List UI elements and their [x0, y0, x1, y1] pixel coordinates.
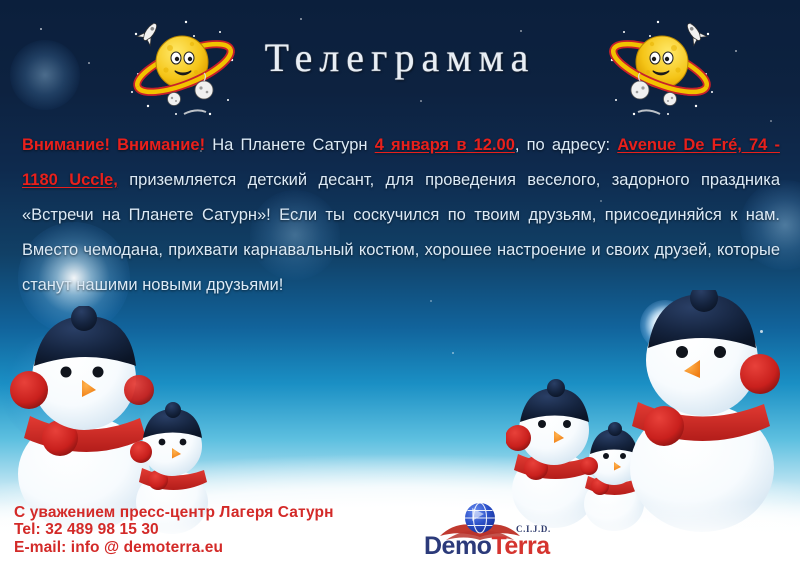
brand-word-terra: Terra — [491, 532, 549, 560]
contact-footer: С уважением пресс-центр Лагеря Сатурн Te… — [14, 504, 334, 557]
event-datetime: 4 января в 12.00 — [375, 136, 515, 154]
demoterra-logo: C.I.J.D. DemoTerra — [424, 502, 594, 560]
body-seg-before-date: На Планете Сатурн — [205, 136, 375, 154]
attention-text: Внимание! Внимание! — [22, 136, 205, 154]
footer-signature: С уважением пресс-центр Лагеря Сатурн — [14, 504, 334, 522]
telegram-poster: Телеграмма Внимание! Внимание! На Планет… — [0, 0, 800, 564]
footer-email: E-mail: info @ demoterra.eu — [14, 539, 334, 557]
body-rest-text: приземляется детский десант, для проведе… — [22, 171, 780, 294]
poster-header: Телеграмма — [0, 0, 800, 124]
brand-word-demo: Demo — [424, 532, 491, 560]
page-title: Телеграмма — [0, 34, 800, 81]
telegram-body: Внимание! Внимание! На Планете Сатурн 4 … — [22, 128, 780, 303]
body-seg-after-date: , по адресу: — [515, 136, 617, 154]
brand-wordmark: DemoTerra — [424, 532, 550, 561]
footer-phone: Tel: 32 489 98 15 30 — [14, 521, 334, 539]
